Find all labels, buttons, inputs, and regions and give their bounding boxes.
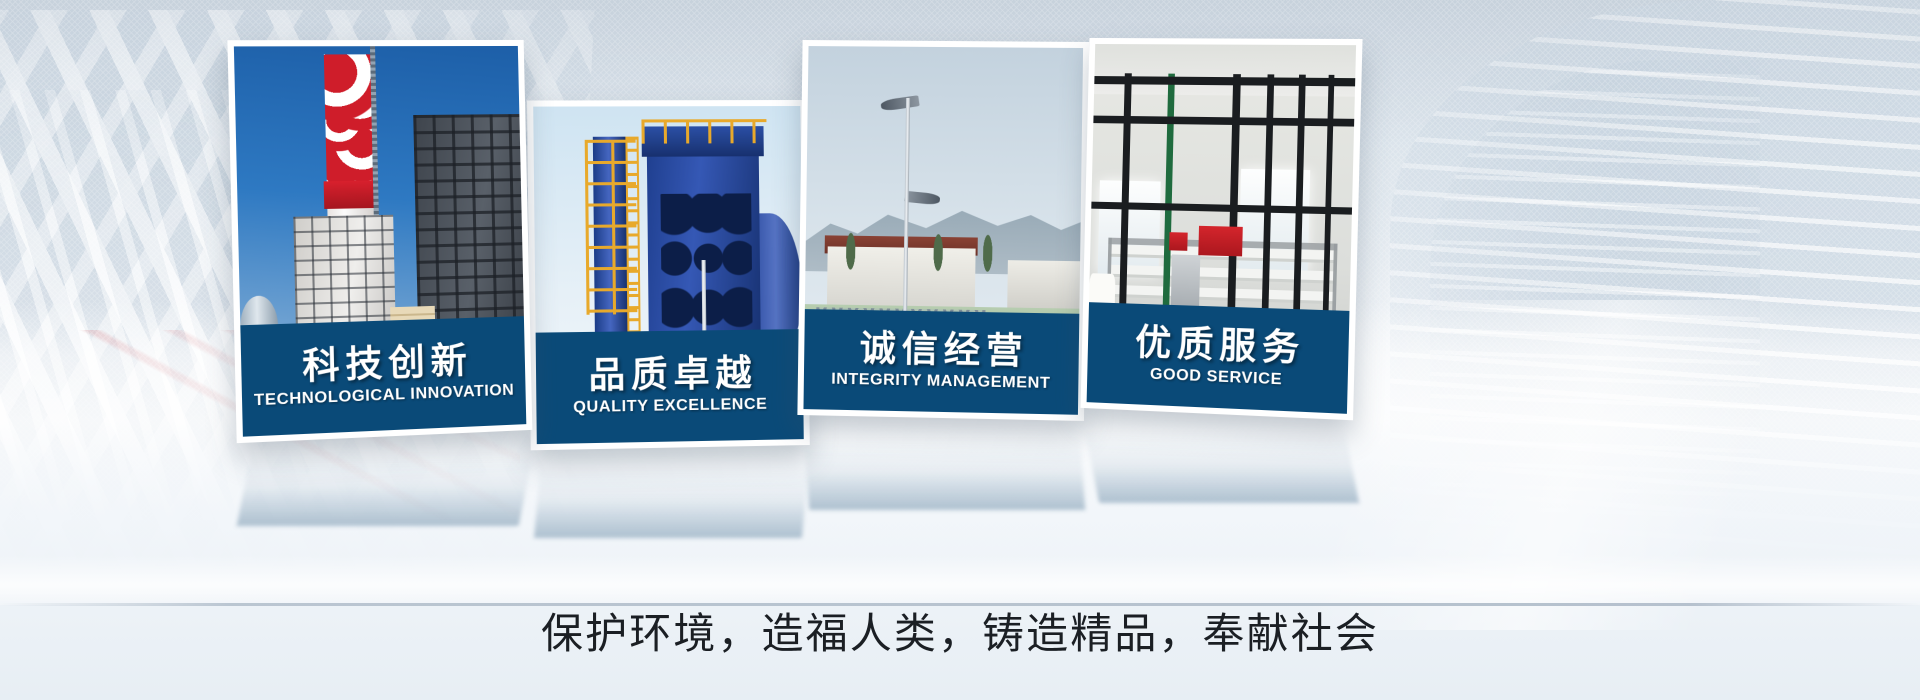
panel-title-cn-1: 科技创新 bbox=[296, 339, 473, 389]
panel-label-bar-2: 品质卓越 QUALITY EXCELLENCE bbox=[536, 329, 804, 444]
panel-frame: 诚信经营 INTEGRITY MANAGEMENT bbox=[803, 46, 1083, 415]
panel-label-bar-1: 科技创新 TECHNOLOGICAL INNOVATION bbox=[240, 316, 526, 437]
panel-title-en-2: QUALITY EXCELLENCE bbox=[573, 396, 767, 417]
feature-panel-quality-excellence[interactable]: 品质卓越 QUALITY EXCELLENCE bbox=[527, 100, 810, 450]
panel-title-en-1: TECHNOLOGICAL INNOVATION bbox=[254, 382, 515, 411]
feature-panel-technological-innovation[interactable]: 科技创新 TECHNOLOGICAL INNOVATION bbox=[227, 40, 532, 443]
panel-title-cn-4: 优质服务 bbox=[1129, 320, 1306, 370]
panel-title-cn-3: 诚信经营 bbox=[854, 327, 1029, 373]
panel-frame: 品质卓越 QUALITY EXCELLENCE bbox=[533, 106, 804, 444]
banner-tagline: 保护环境，造福人类，铸造精品，奉献社会 bbox=[0, 600, 1920, 661]
panel-title-en-4: GOOD SERVICE bbox=[1150, 366, 1283, 390]
panel-frame: 科技创新 TECHNOLOGICAL INNOVATION bbox=[234, 46, 526, 437]
feature-panel-integrity-management[interactable]: 诚信经营 INTEGRITY MANAGEMENT bbox=[797, 40, 1089, 421]
panel-frame: 优质服务 GOOD SERVICE bbox=[1087, 44, 1356, 414]
panel-label-bar-4: 优质服务 GOOD SERVICE bbox=[1087, 302, 1350, 414]
panel-label-bar-3: 诚信经营 INTEGRITY MANAGEMENT bbox=[803, 309, 1079, 415]
panel-title-en-3: INTEGRITY MANAGEMENT bbox=[831, 371, 1050, 393]
feature-panel-group: 科技创新 TECHNOLOGICAL INNOVATION bbox=[0, 0, 1920, 700]
banner-stage: 科技创新 TECHNOLOGICAL INNOVATION bbox=[0, 0, 1920, 700]
feature-panel-good-service[interactable]: 优质服务 GOOD SERVICE bbox=[1081, 38, 1363, 420]
panel-title-cn-2: 品质卓越 bbox=[582, 352, 757, 397]
